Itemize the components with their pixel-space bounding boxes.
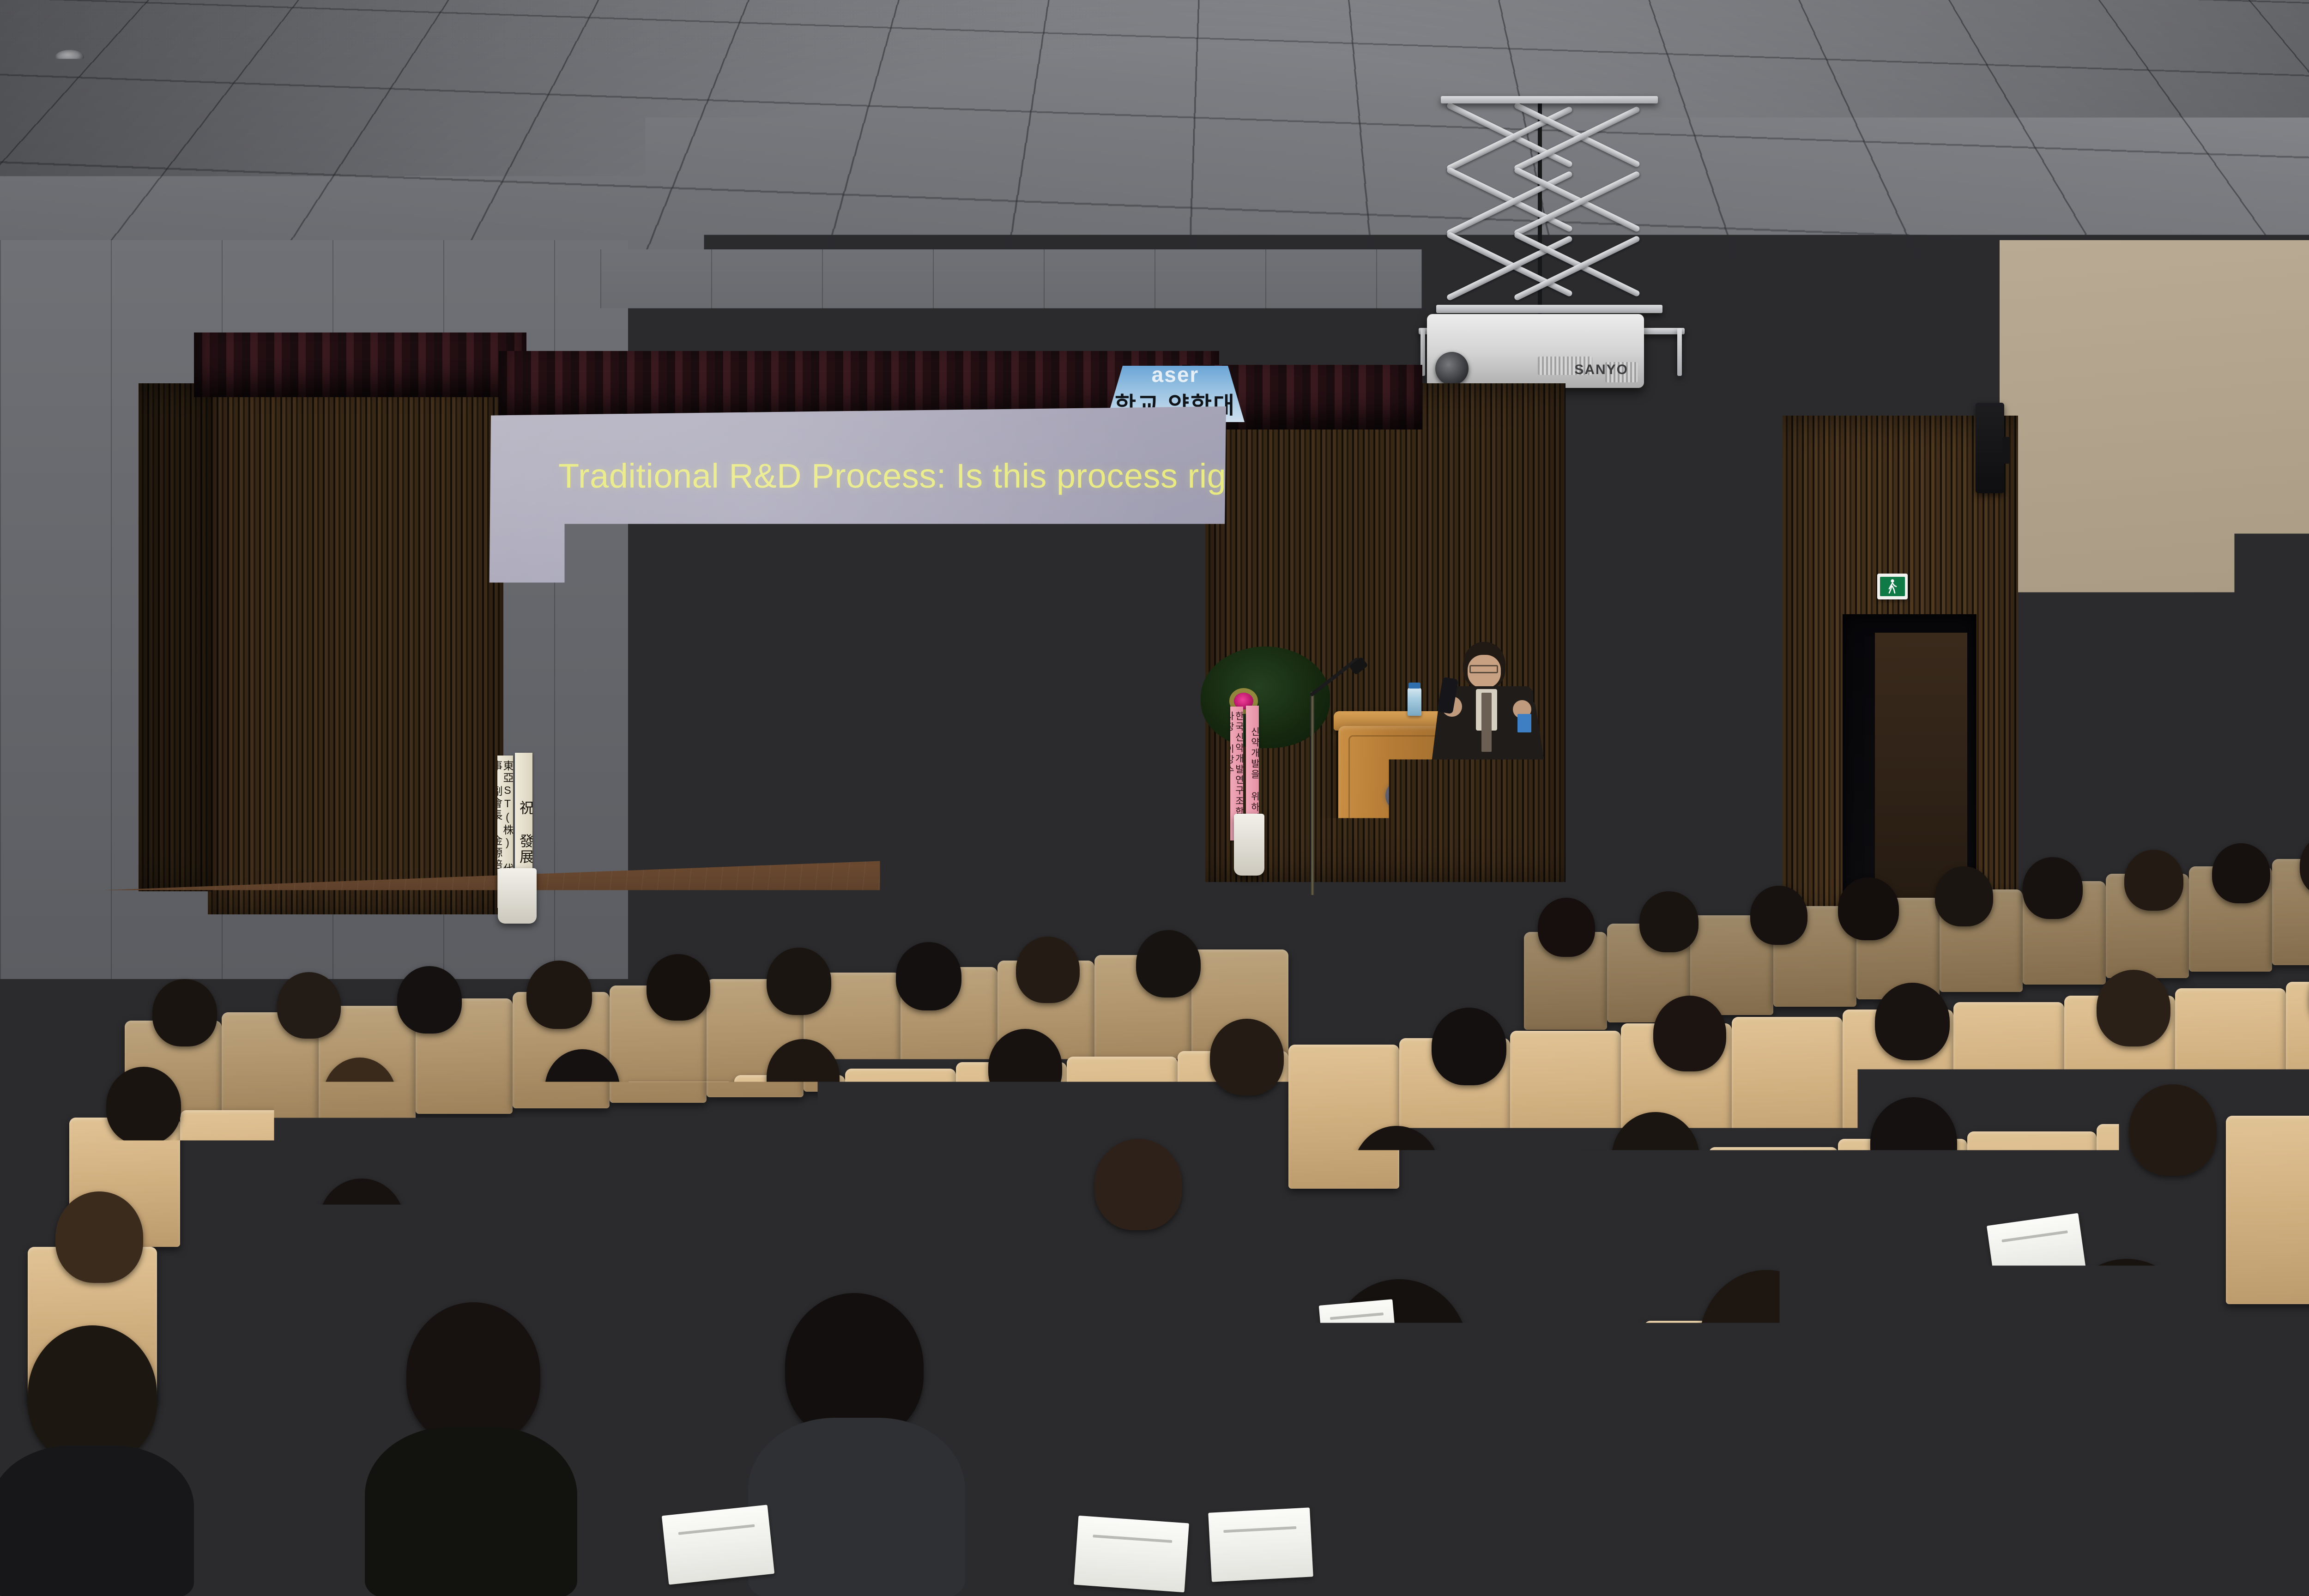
audience-head-foreground xyxy=(1699,1270,1833,1413)
handout-booklet[interactable] xyxy=(1074,1516,1189,1592)
audience-head xyxy=(1538,898,1595,957)
english-stage-label: Proof of Concept Study xyxy=(778,744,859,769)
handout-booklet[interactable] xyxy=(662,1505,774,1584)
water-bottle xyxy=(369,801,380,822)
audience-head xyxy=(1432,1008,1506,1085)
phase-label: 임상1상 xyxy=(730,653,785,671)
audience-head xyxy=(767,948,831,1015)
ceiling-downlight xyxy=(1659,45,1687,59)
stage-curtain-left xyxy=(194,332,526,397)
pink-flower xyxy=(1523,785,1548,806)
chairperson-chair-back xyxy=(270,821,310,883)
audience-head xyxy=(2124,850,2183,911)
audience-shoulders xyxy=(0,1445,194,1596)
seat-number-plate xyxy=(774,1194,804,1202)
audience-head xyxy=(1210,1019,1284,1095)
audience-head xyxy=(988,1029,1062,1106)
phase-label: 임상2a/2b/3상 xyxy=(785,653,891,671)
track-light xyxy=(702,227,728,246)
audience-head xyxy=(1136,930,1201,997)
english-stage-label: Exploratory Development xyxy=(708,744,786,769)
ribbon-bow xyxy=(493,737,518,757)
microphone-stand-pole xyxy=(1311,692,1314,895)
ceiling-downlight xyxy=(2235,121,2266,136)
handout-booklet[interactable] xyxy=(593,1192,667,1245)
water-bottle-cap xyxy=(1408,683,1420,689)
projection-screen: Traditional R&D Process: Is this process… xyxy=(487,406,1226,817)
audience-head xyxy=(1838,877,1899,940)
auditorium-seat[interactable] xyxy=(2226,1116,2309,1304)
audience-head xyxy=(896,942,961,1010)
water-bottle xyxy=(358,803,369,824)
pipeline-stage-label: 독성 약동학 약리 합성 제형 xyxy=(695,676,726,737)
audience-head xyxy=(106,1067,181,1144)
ceiling-downlight xyxy=(55,50,84,64)
pipeline-stages: 타겟선정, 유효물질발굴, 선도물질발굴 선도물질최적화 개발후보 선정 독성 … xyxy=(634,672,939,741)
audience-head xyxy=(1353,1126,1440,1216)
loudspeaker-bracket xyxy=(2002,437,2010,464)
ceiling-downlight xyxy=(1032,76,1063,91)
audience-head xyxy=(1639,891,1699,952)
flower-stand-pot-right xyxy=(1234,814,1264,876)
exit-sign-field xyxy=(1880,577,1905,597)
audience-head xyxy=(152,979,217,1046)
audience-head xyxy=(1432,905,1487,962)
audience-shoulders xyxy=(2023,1384,2240,1596)
audience-shoulders xyxy=(1653,1395,1866,1596)
handout-booklet[interactable] xyxy=(1208,1507,1313,1582)
pipeline-stage-label: 안전성 약효초기검증 xyxy=(767,695,824,719)
handout-booklet[interactable] xyxy=(1987,1213,2086,1286)
wood-slat-wall-left-far xyxy=(139,383,212,891)
audience-head-foreground xyxy=(2060,1259,2194,1402)
audience-head-foreground xyxy=(406,1302,540,1445)
presenter-name-badge xyxy=(1517,714,1531,732)
audience-head xyxy=(767,1039,840,1115)
ceiling-downlight xyxy=(351,149,383,164)
slide-page-number: 4 xyxy=(1109,786,1115,801)
auditorium-seat[interactable] xyxy=(1191,1178,1321,1351)
presenter-necktie xyxy=(1481,693,1492,752)
audience-head xyxy=(319,1179,405,1268)
water-bottle xyxy=(348,804,358,825)
auditorium-seat[interactable] xyxy=(157,1239,286,1398)
audience-head xyxy=(647,954,710,1021)
audience-head xyxy=(545,1049,620,1127)
auditorium-seat[interactable] xyxy=(402,1095,513,1230)
audience-head xyxy=(526,961,592,1029)
auditorium-seat[interactable] xyxy=(2286,982,2309,1134)
slide-diagram-panel: 과학적인 발견 기초연구 임상 개발 허가유지 및 상업화 전임상 임상1상 임… xyxy=(624,540,1090,817)
emergency-exit-sign xyxy=(1877,574,1908,599)
english-stage-label: Product Life Cycle Management xyxy=(944,731,1051,757)
audience-head xyxy=(397,966,462,1034)
ceiling-downlight xyxy=(2024,28,2052,42)
audience-head xyxy=(1016,937,1080,1003)
audience-head xyxy=(323,1058,396,1133)
audience-head xyxy=(2023,857,2083,919)
audience-head xyxy=(2212,843,2270,903)
audience-shoulders xyxy=(748,1418,965,1596)
slide-title: Traditional R&D Process: Is this process… xyxy=(558,456,1226,496)
audience-head-foreground xyxy=(28,1325,157,1464)
audience-shoulders xyxy=(1288,1404,1510,1596)
stage-arrow xyxy=(929,749,939,794)
audience-head xyxy=(2097,970,2170,1046)
auditorium-scene: SANYO aser 학교 약학대 xyxy=(0,0,2309,1596)
handout-booklet[interactable] xyxy=(1319,1299,1397,1354)
auditorium-seat[interactable] xyxy=(674,1207,804,1373)
pipeline-stage-label: 안전성 xyxy=(732,701,763,713)
audience-head xyxy=(55,1191,143,1283)
audience-head xyxy=(1653,996,1726,1071)
auditorium-seat[interactable] xyxy=(180,1110,291,1241)
track-light xyxy=(1342,215,1368,236)
audience-head xyxy=(1094,1139,1182,1230)
audience-head xyxy=(836,1152,922,1241)
podium-flower-ribbon xyxy=(1481,831,1495,917)
section-label: 과학적인 발견 기초연구 xyxy=(640,579,750,615)
audience-head xyxy=(1750,886,1807,945)
seat-number-plate xyxy=(996,1183,1025,1191)
wall-loudspeaker xyxy=(1976,403,2004,493)
auditorium-seat[interactable] xyxy=(1953,1002,2064,1152)
university-emblem xyxy=(1385,780,1416,811)
section-label: 임상 개발 xyxy=(738,586,826,604)
pipeline-stage-label: 타겟선정, 유효물질발굴, 선도물질발굴 선도물질최적화 개발후보 선정 xyxy=(634,672,693,741)
audience-head xyxy=(2129,1084,2217,1176)
running-person-icon xyxy=(1886,579,1898,594)
audience-head xyxy=(277,972,341,1039)
audience-head xyxy=(1875,983,1950,1060)
banner-latin-text: aser xyxy=(1152,366,1199,387)
pipeline-stage: 안전성 약효초기검증 xyxy=(767,672,824,741)
podium-water-bottle xyxy=(1408,687,1421,716)
track-light xyxy=(1118,217,1144,237)
pipeline-stage: 내약성 유효성 xyxy=(824,672,875,741)
audience-head xyxy=(1935,866,1993,926)
section-label: 허가유지 및 상업화 xyxy=(845,574,951,610)
auditorium-seat[interactable] xyxy=(1732,1017,1843,1165)
audience-shoulders xyxy=(365,1427,577,1596)
audience-head xyxy=(1612,1112,1699,1203)
english-stage-label: Full Development xyxy=(855,740,927,765)
pipeline-stage: 타겟선정, 유효물질발굴, 선도물질발굴 선도물질최적화 개발후보 선정 xyxy=(634,672,693,741)
auditorium-seat[interactable] xyxy=(933,1192,1062,1362)
audience-head xyxy=(1870,1097,1957,1188)
phase-label: 임상4상 xyxy=(900,648,969,667)
auditorium-seat[interactable] xyxy=(1450,1163,1579,1340)
phase-label: 전임상 xyxy=(681,653,732,671)
projector-mount-plate-top xyxy=(1441,96,1658,103)
flower-stand-pot-left xyxy=(498,868,537,924)
auditorium-seat[interactable] xyxy=(1358,946,1441,1040)
pipeline-stage-label: 출시 xyxy=(921,701,943,713)
presenter-glasses-icon xyxy=(1469,665,1498,673)
pipeline-stage-label: 내약성 유효성 xyxy=(834,695,865,719)
